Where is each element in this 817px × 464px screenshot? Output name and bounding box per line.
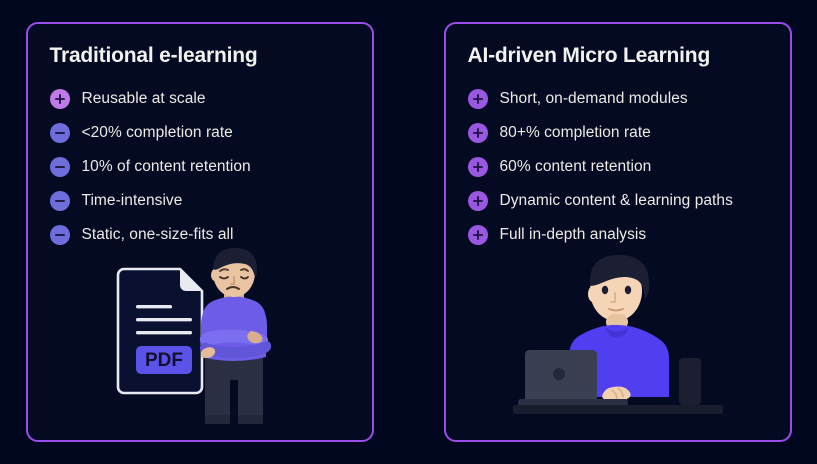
plus-circle-icon (468, 89, 488, 109)
card-traditional-elearning: Traditional e-learning Reusable at scale (26, 22, 374, 442)
list-item: Short, on-demand modules (468, 82, 780, 116)
list-item: Dynamic content & learning paths (468, 184, 780, 218)
plus-circle-icon (468, 191, 488, 211)
plus-circle-icon (50, 89, 70, 109)
page-title: Traditional e-learning (50, 44, 258, 68)
plus-circle-icon (468, 123, 488, 143)
pdf-document-icon: PDF (118, 269, 202, 393)
list-item: 80+% completion rate (468, 116, 780, 150)
minus-circle-icon (50, 157, 70, 177)
list-item-label: 10% of content retention (82, 158, 251, 176)
list-item: Time-intensive (50, 184, 362, 218)
page-title: AI-driven Micro Learning (468, 44, 711, 68)
list-item-label: 60% content retention (500, 158, 652, 176)
background-object (679, 358, 701, 405)
frustrated-person-figure (199, 248, 270, 424)
list-item-label: Time-intensive (82, 192, 183, 210)
list-item: 10% of content retention (50, 150, 362, 184)
list-item-label: <20% completion rate (82, 124, 233, 142)
list-item: 60% content retention (468, 150, 780, 184)
minus-circle-icon (50, 191, 70, 211)
list-item-label: 80+% completion rate (500, 124, 651, 142)
person-working-on-laptop-illustration (446, 214, 790, 440)
desk-surface (513, 405, 723, 414)
feature-list-traditional: Reusable at scale <20% completion rate 1… (50, 82, 362, 252)
plus-circle-icon (468, 157, 488, 177)
list-item: <20% completion rate (50, 116, 362, 150)
list-item-label: Dynamic content & learning paths (500, 192, 733, 210)
comparison-cards-container: Traditional e-learning Reusable at scale (0, 0, 817, 464)
card-ai-driven-micro-learning: AI-driven Micro Learning Short, on-deman… (444, 22, 792, 442)
list-item: Reusable at scale (50, 82, 362, 116)
pdf-document-and-frustrated-person-illustration: PDF (28, 232, 372, 440)
list-item-label: Short, on-demand modules (500, 90, 688, 108)
minus-circle-icon (50, 123, 70, 143)
list-item-label: Reusable at scale (82, 90, 206, 108)
pdf-badge-label: PDF (145, 350, 183, 371)
laptop-logo-icon (553, 368, 565, 380)
